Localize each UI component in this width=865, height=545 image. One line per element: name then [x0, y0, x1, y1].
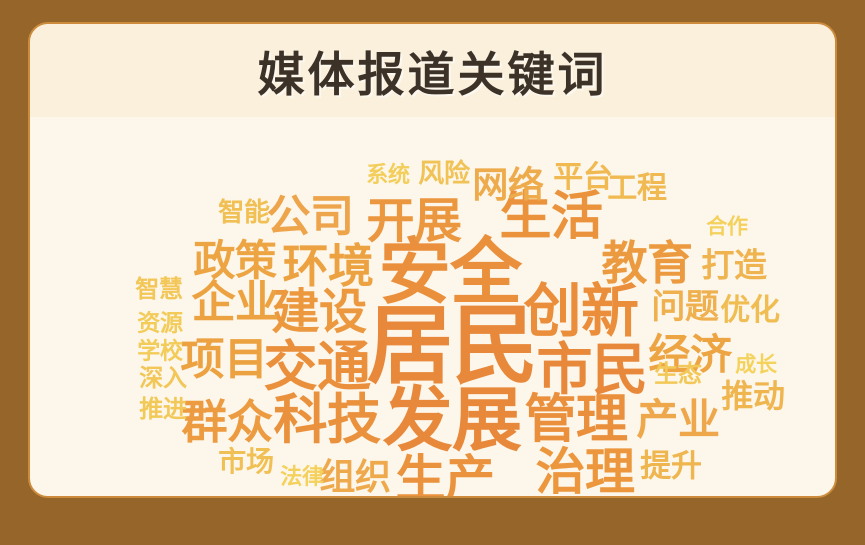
word-cloud-term: 创新	[524, 283, 639, 341]
word-cloud-term: 环境	[282, 243, 373, 289]
word-cloud-term: 市场	[218, 448, 273, 476]
word-cloud-term: 公司	[266, 195, 353, 239]
word-cloud: 居民安全发展创新市民交通科技生活管理生产治理建设群众开展教育环境企业项目公司经济…	[30, 117, 835, 497]
word-cloud-term: 交通	[264, 340, 371, 394]
word-cloud-term: 系统	[366, 164, 410, 186]
word-cloud-term: 智慧	[135, 278, 183, 302]
word-cloud-term: 平台	[553, 163, 612, 193]
word-cloud-term: 工程	[607, 174, 666, 204]
word-cloud-term: 项目	[180, 338, 267, 382]
word-cloud-term: 打造	[701, 249, 766, 282]
word-cloud-term: 生态	[654, 363, 702, 387]
word-cloud-term: 群众	[181, 399, 272, 445]
page-title: 媒体报道关键词	[30, 24, 835, 117]
word-cloud-term: 提升	[640, 451, 701, 482]
word-cloud-term: 智能	[218, 199, 269, 225]
word-cloud-term: 合作	[706, 217, 748, 238]
word-cloud-term: 组织	[319, 459, 390, 495]
word-cloud-term: 政策	[193, 240, 276, 282]
word-cloud-term: 建设	[271, 289, 366, 337]
word-cloud-term: 成长	[735, 355, 777, 376]
word-cloud-term: 问题	[651, 290, 718, 324]
poster-frame: 媒体报道关键词 居民安全发展创新市民交通科技生活管理生产治理建设群众开展教育环境…	[0, 0, 865, 545]
word-cloud-term: 推进	[139, 398, 187, 422]
word-cloud-term: 开展	[366, 198, 461, 246]
word-cloud-term: 优化	[720, 296, 779, 326]
word-cloud-term: 深入	[139, 367, 187, 391]
word-cloud-term: 资源	[137, 312, 183, 335]
word-cloud-term: 风险	[418, 160, 469, 186]
word-cloud-term: 网络	[472, 167, 543, 203]
word-cloud-term: 学校	[137, 340, 183, 363]
word-cloud-term: 企业	[191, 281, 278, 325]
word-cloud-term: 市民	[537, 342, 648, 398]
content-panel: 媒体报道关键词 居民安全发展创新市民交通科技生活管理生产治理建设群众开展教育环境…	[28, 22, 837, 498]
word-cloud-term: 法律	[280, 466, 324, 488]
word-cloud-term: 教育	[601, 240, 692, 286]
word-cloud-term: 生产	[396, 454, 495, 498]
word-cloud-term: 居民	[367, 303, 537, 389]
word-cloud-term: 管理	[525, 394, 628, 446]
word-cloud-term: 推动	[721, 380, 784, 412]
word-cloud-term: 发展	[383, 385, 522, 455]
word-cloud-term: 治理	[536, 447, 635, 497]
word-cloud-term: 产业	[636, 399, 719, 441]
word-cloud-term: 科技	[274, 393, 381, 447]
